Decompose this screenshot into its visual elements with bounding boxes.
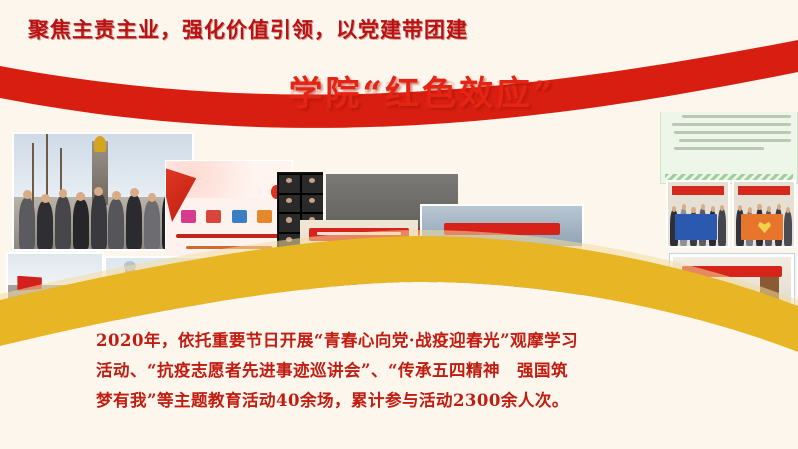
statue-icon <box>94 136 106 152</box>
crowd-group <box>300 258 418 320</box>
poster-subtext <box>186 246 272 249</box>
page-title-main: 聚焦主责主业，强化价值引领，以党建带团建 <box>28 14 468 44</box>
poster-headline-text <box>176 234 282 238</box>
poster-badge <box>257 210 272 223</box>
ceremony-banner <box>309 228 408 241</box>
caption-line-3: 梦有我”等主题教育活动40余场，累计参与活动2300余人次。 <box>96 386 702 416</box>
photo-parade-volunteers-red-flag <box>6 252 104 320</box>
community-banner <box>682 266 781 277</box>
photo-orange-banner-heart-group-photo <box>732 180 796 248</box>
photo-banner-header <box>738 186 791 195</box>
crowd-group <box>422 260 582 320</box>
page-title-sub: 学院“红色效应” <box>0 66 798 115</box>
photo-city-square-gathering <box>104 256 216 320</box>
crowd-group <box>106 293 214 320</box>
blue-banner-shape <box>675 214 717 240</box>
tower-dome <box>124 261 136 271</box>
caption-line-2: 活动、“抗疫志愿者先进事迹巡讲会”、“传承五四精神 强国筑 <box>96 356 702 386</box>
photo-collage <box>0 112 798 320</box>
photo-banner-header <box>672 186 725 195</box>
photo-may-fourth-centenary-group <box>420 204 584 320</box>
photo-blue-banner-group-photo <box>666 180 730 248</box>
poster-badge <box>181 210 196 223</box>
may-fourth-banner <box>444 223 559 236</box>
photo-sky <box>106 258 214 291</box>
photo-award-ceremony-sash-group <box>300 220 418 320</box>
crowd-group <box>673 291 791 320</box>
slide-root: 聚焦主责主业，强化价值引领，以党建带团建 学院“红色效应” 学院“红色效应” 2… <box>0 0 798 449</box>
poster-badge <box>232 210 247 223</box>
poster-badge <box>206 210 221 223</box>
caption-line-1: 2020年，依托重要节日开展“青春心向党·战疫迎春光”观摩学习 <box>96 326 702 356</box>
article-text-panel <box>660 112 798 184</box>
photo-community-civility-activity-photo <box>670 254 794 320</box>
crowd-group <box>8 289 102 320</box>
caption-block: 2020年，依托重要节日开展“青春心向党·战疫迎春光”观摩学习 活动、“抗疫志愿… <box>96 326 702 416</box>
